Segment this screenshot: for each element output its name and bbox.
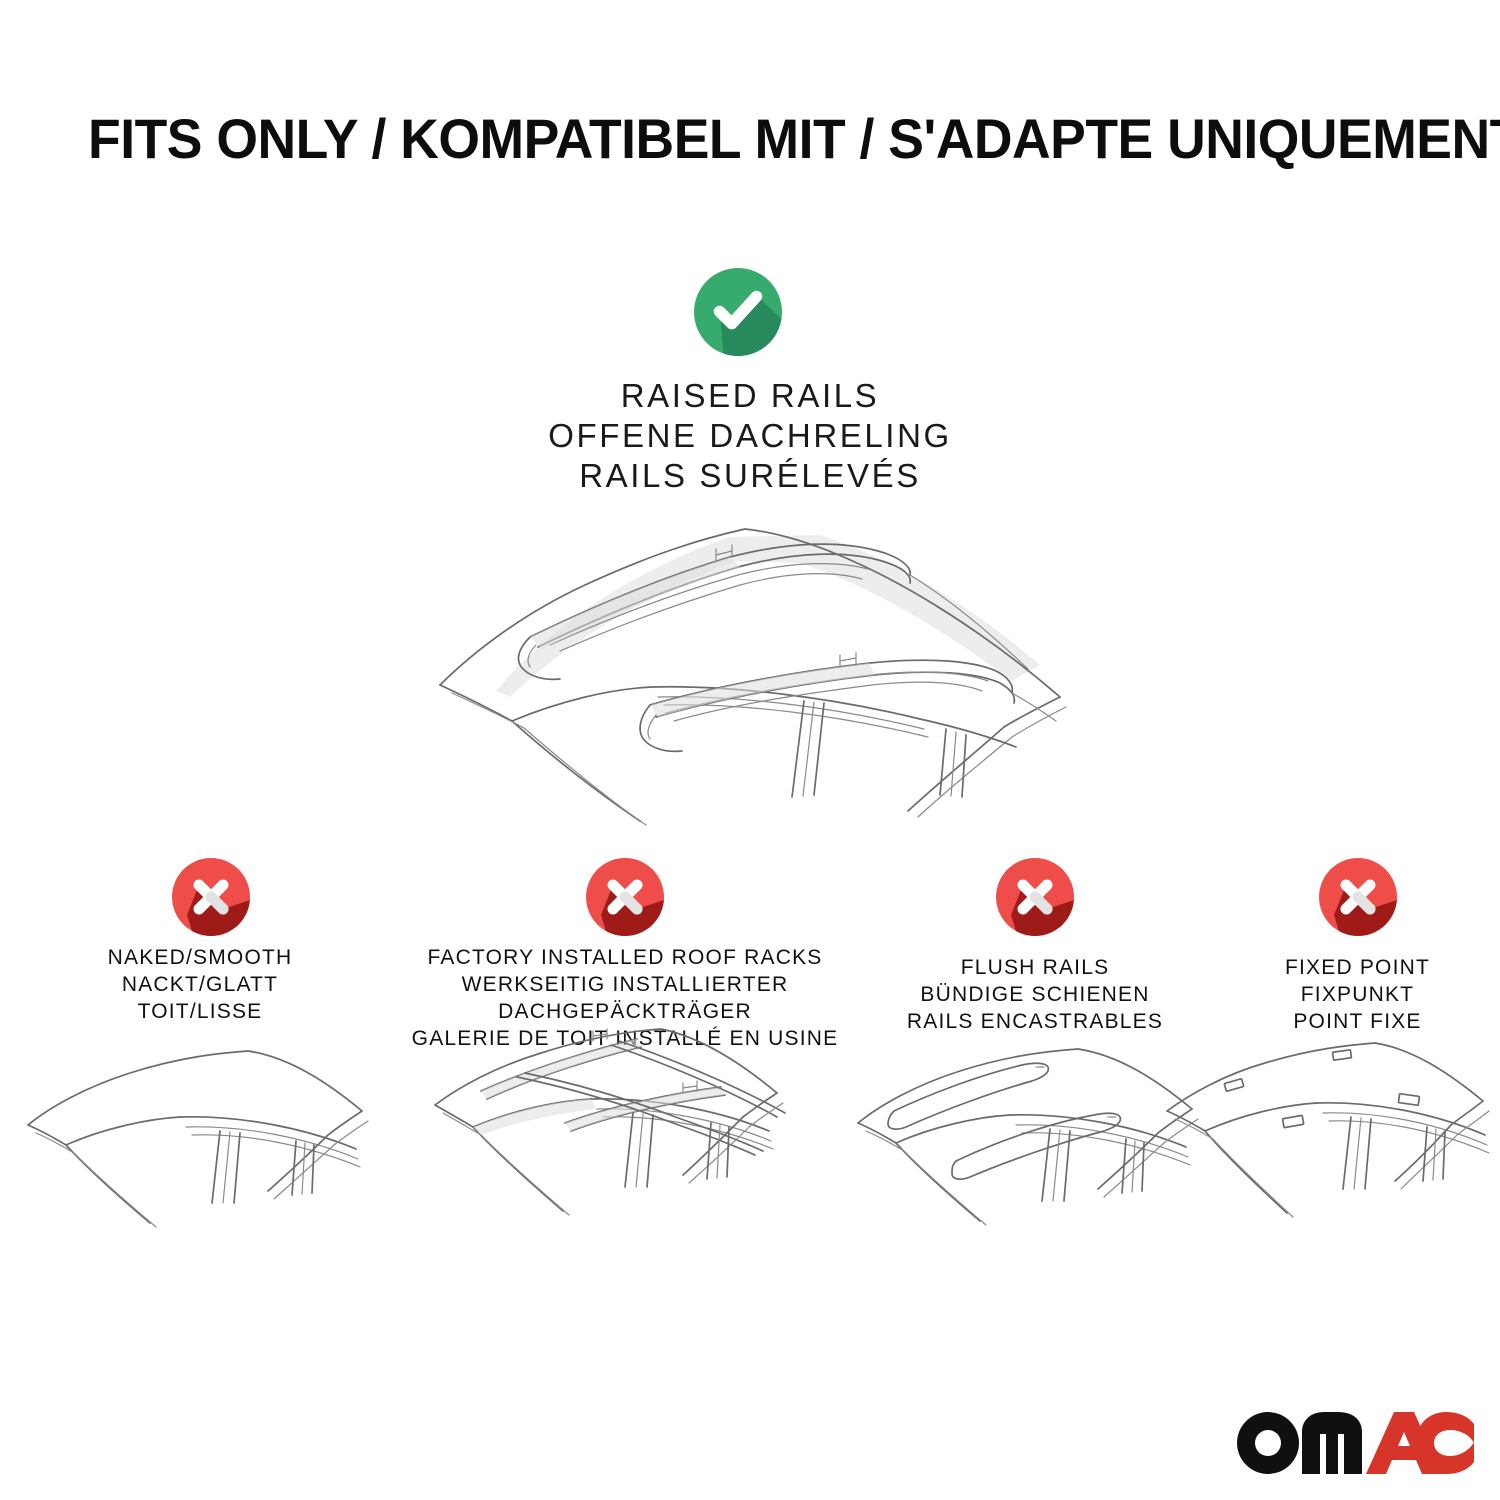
label-line-fr: POINT FIXE xyxy=(1215,1008,1500,1035)
incompatible-section: NAKED/SMOOTH NACKT/GLATT TOIT/LISSE xyxy=(0,840,1500,1300)
label-line-de-2: DACHGEPÄCKTRÄGER xyxy=(395,998,855,1025)
car-roof-naked-smooth-illustration xyxy=(20,1045,400,1275)
check-circle-icon xyxy=(694,268,782,356)
label-line-fr: TOIT/LISSE xyxy=(20,998,380,1025)
compatible-label-line-en: RAISED RAILS xyxy=(250,376,1250,416)
fitment-infographic: FITS ONLY / KOMPATIBEL MIT / S'ADAPTE UN… xyxy=(0,0,1500,1500)
label-line-en: NAKED/SMOOTH xyxy=(20,944,380,971)
omac-logo xyxy=(1232,1402,1474,1476)
label-line-fr: RAILS ENCASTRABLES xyxy=(855,1008,1215,1035)
label-line-de: FIXPUNKT xyxy=(1215,981,1500,1008)
x-circle-icon xyxy=(1319,858,1397,936)
incompatible-label-fixed-point: FIXED POINT FIXPUNKT POINT FIXE xyxy=(1215,954,1500,1035)
x-circle-icon xyxy=(586,858,664,936)
compatible-label: RAISED RAILS OFFENE DACHRELING RAILS SUR… xyxy=(250,376,1250,496)
car-roof-raised-rails-illustration xyxy=(400,505,1100,805)
incompatible-label-naked-smooth: NAKED/SMOOTH NACKT/GLATT TOIT/LISSE xyxy=(20,944,380,1025)
x-circle-icon xyxy=(996,858,1074,936)
label-line-de: NACKT/GLATT xyxy=(20,971,380,998)
label-line-en: FLUSH RAILS xyxy=(855,954,1215,981)
incompatible-label-flush-rails: FLUSH RAILS BÜNDIGE SCHIENEN RAILS ENCAS… xyxy=(855,954,1215,1035)
label-line-en: FACTORY INSTALLED ROOF RACKS xyxy=(395,944,855,971)
car-roof-fixed-point-illustration xyxy=(1155,1045,1500,1275)
compatible-label-line-fr: RAILS SURÉLEVÉS xyxy=(250,456,1250,496)
label-line-de: BÜNDIGE SCHIENEN xyxy=(855,981,1215,1008)
label-line-de-1: WERKSEITIG INSTALLIERTER xyxy=(395,971,855,998)
x-circle-icon xyxy=(172,858,250,936)
car-roof-factory-racks-illustration xyxy=(425,1035,825,1275)
compatible-label-line-de: OFFENE DACHRELING xyxy=(250,416,1250,456)
page-title: FITS ONLY / KOMPATIBEL MIT / S'ADAPTE UN… xyxy=(88,108,1358,170)
label-line-en: FIXED POINT xyxy=(1215,954,1500,981)
